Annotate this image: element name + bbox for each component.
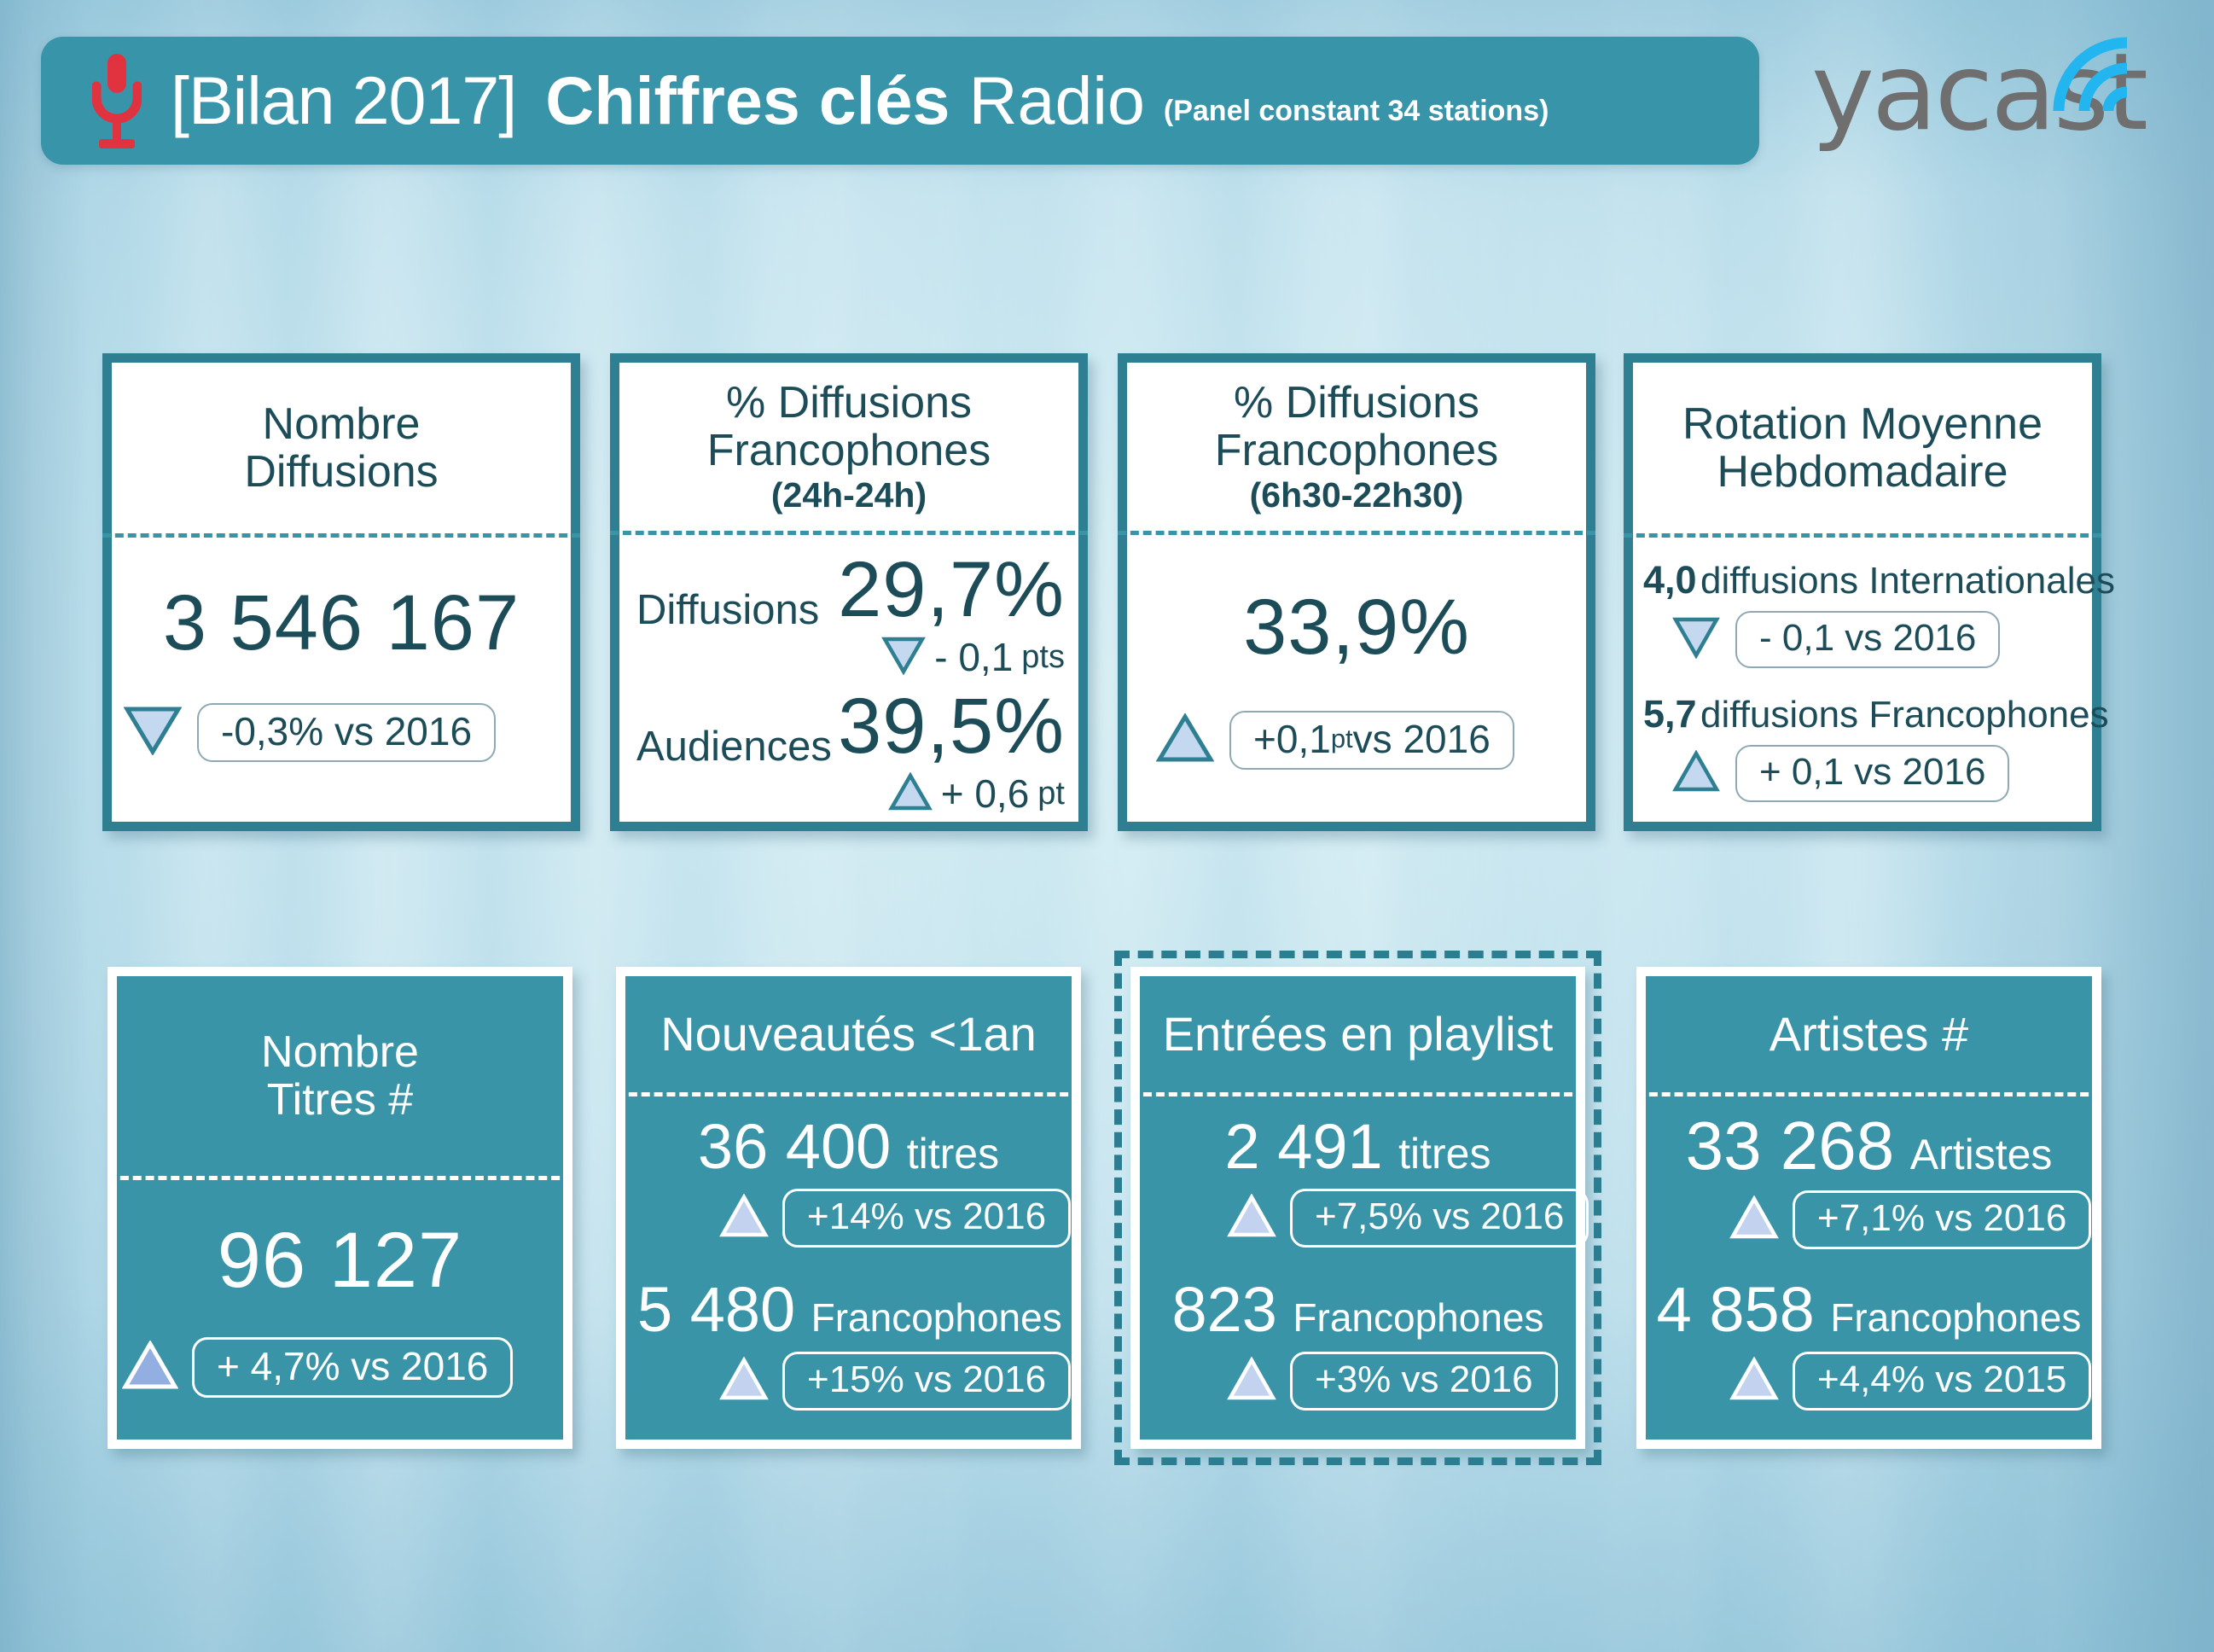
- row-trend: +7,1% vs 2016: [1654, 1190, 2083, 1249]
- row-value: 4 858: [1657, 1274, 1815, 1345]
- row-value: 4,0: [1643, 558, 1697, 602]
- card-body: 3 546 167 -0,3% vs 2016: [112, 538, 571, 816]
- row-badge: +7,1% vs 2016: [1793, 1190, 2091, 1249]
- row-badge: +14% vs 2016: [782, 1189, 1071, 1248]
- triangle-up-icon: [1672, 750, 1720, 797]
- microphone-icon: [92, 54, 142, 148]
- card-header: Nouveautés <1an: [625, 976, 1072, 1092]
- artistes-row-total: 33 268 Artistes +7,1% vs 2016: [1654, 1112, 2083, 1249]
- triangle-up-icon: [888, 772, 933, 816]
- titres-trend-row: + 4,7% vs 2016: [117, 1337, 563, 1398]
- metric-row-audiences: Audiences 39,5% + 0,6 pt: [636, 687, 1065, 815]
- card-nombre-diffusions: Nombre Diffusions 3 546 167 -0,3% vs 201…: [102, 353, 580, 831]
- diffusions-trend-row: -0,3% vs 2016: [112, 703, 571, 762]
- row-value: 5 480: [637, 1274, 795, 1345]
- card-artistes: Artistes # 33 268 Artistes +7,1% vs 2016…: [1636, 967, 2101, 1449]
- card-title-line2: Francophones: [1215, 427, 1498, 474]
- triangle-down-icon: [881, 636, 926, 679]
- row-value: 39,5%: [838, 687, 1065, 765]
- header-title: [Bilan 2017] Chiffres clés Radio (Panel …: [171, 61, 1549, 140]
- card-header: Artistes #: [1646, 976, 2092, 1092]
- card-title-line2: Francophones: [707, 427, 991, 474]
- card-body: 96 127 + 4,7% vs 2016: [117, 1180, 563, 1444]
- card-header: Nombre Diffusions: [112, 363, 571, 533]
- triangle-up-icon: [1227, 1194, 1276, 1242]
- badge-main: +0,1: [1253, 718, 1331, 759]
- card-header: Entrées en playlist: [1140, 976, 1576, 1092]
- card-title-line2: Hebdomadaire: [1717, 448, 2008, 496]
- card-title-line1: Nombre: [261, 1028, 419, 1076]
- card-title-line1: Rotation Moyenne: [1682, 400, 2043, 448]
- rotation-row-internationales: 4,0 diffusions Internationales - 0,1 vs …: [1643, 558, 2083, 668]
- titres-value: 96 127: [117, 1221, 563, 1300]
- card-header: Rotation Moyenne Hebdomadaire: [1633, 363, 2092, 533]
- titres-change-badge: + 4,7% vs 2016: [192, 1337, 513, 1398]
- triangle-up-icon: [1156, 713, 1214, 767]
- row-trend: +7,5% vs 2016: [1152, 1189, 1564, 1248]
- header-bar: [Bilan 2017] Chiffres clés Radio (Panel …: [41, 37, 1759, 165]
- triangle-up-icon: [1729, 1195, 1779, 1244]
- title-bilan: [Bilan 2017]: [171, 61, 516, 140]
- row-badge: - 0,1 vs 2016: [1735, 611, 2000, 668]
- wifi-signal-icon: [2052, 36, 2147, 117]
- title-panel-note: (Panel constant 34 stations): [1164, 95, 1549, 128]
- entrees-row-titres: 2 491 titres +7,5% vs 2016: [1152, 1115, 1564, 1248]
- card-header: % Diffusions Francophones (6h30-22h30): [1127, 363, 1586, 531]
- row-trend: - 0,1 vs 2016: [1643, 611, 2083, 668]
- card-body: 33 268 Artistes +7,1% vs 2016 4 858 Fran…: [1646, 1096, 2092, 1444]
- badge-rest: vs 2016: [1353, 718, 1491, 759]
- triangle-up-icon: [122, 1341, 178, 1394]
- artistes-row-francophones: 4 858 Francophones +4,4% vs 2015: [1654, 1278, 2083, 1411]
- row-label: Diffusions: [636, 586, 819, 634]
- row-trend: +3% vs 2016: [1152, 1352, 1564, 1411]
- entrees-row-francophones: 823 Francophones +3% vs 2016: [1152, 1278, 1564, 1411]
- triangle-up-icon: [719, 1357, 769, 1405]
- row-badge: +3% vs 2016: [1290, 1352, 1558, 1411]
- card-nombre-titres: Nombre Titres # 96 127 + 4,7% vs 2016: [108, 967, 572, 1449]
- row-change: + 0,6: [941, 771, 1030, 817]
- nouveautes-row-francophones: 5 480 Francophones +15% vs 2016: [637, 1278, 1060, 1411]
- card-francophones-6h30: % Diffusions Francophones (6h30-22h30) 3…: [1118, 353, 1595, 831]
- card-nouveautes: Nouveautés <1an 36 400 titres +14% vs 20…: [616, 967, 1081, 1449]
- triangle-down-icon: [124, 706, 182, 759]
- card-title-line1: % Diffusions: [1234, 379, 1479, 427]
- row-trend: +15% vs 2016: [637, 1352, 1060, 1411]
- card-body: Diffusions 29,7% - 0,1 pts Audiences 39,…: [619, 535, 1078, 816]
- row-value: 29,7%: [838, 550, 1065, 629]
- card-title-line1: % Diffusions: [726, 379, 972, 427]
- card-title-line1: Nombre: [263, 400, 421, 448]
- card-title-line2: Titres #: [267, 1076, 413, 1124]
- row-value: 823: [1171, 1274, 1276, 1345]
- card-entrees-playlist: Entrées en playlist 2 491 titres +7,5% v…: [1130, 967, 1585, 1449]
- row-change: - 0,1: [934, 634, 1013, 680]
- francophones-6h30-value: 33,9%: [1127, 588, 1586, 666]
- card-title: Entrées en playlist: [1163, 1009, 1554, 1060]
- card-subtitle: (24h-24h): [771, 476, 927, 515]
- row-badge: +15% vs 2016: [782, 1352, 1071, 1411]
- card-title: Nouveautés <1an: [660, 1009, 1037, 1060]
- triangle-down-icon: [1672, 616, 1720, 663]
- title-radio: Radio: [968, 61, 1144, 140]
- row-unit: Francophones: [1293, 1295, 1543, 1340]
- row-label: Audiences: [636, 723, 832, 771]
- yacast-logo: yacast: [1811, 36, 2153, 151]
- row-unit: Francophones: [811, 1295, 1062, 1340]
- row-value: 36 400: [698, 1111, 891, 1182]
- badge-sup: pt: [1331, 725, 1353, 753]
- card-title-line2: Diffusions: [244, 448, 438, 496]
- row-value: 2 491: [1225, 1111, 1383, 1182]
- triangle-up-icon: [1227, 1357, 1276, 1405]
- row-trend: +4,4% vs 2015: [1654, 1352, 2083, 1411]
- title-keyfigures: Chiffres clés: [545, 61, 950, 140]
- card-body: 2 491 titres +7,5% vs 2016 823 Francopho…: [1140, 1096, 1576, 1444]
- row-badge: +7,5% vs 2016: [1290, 1189, 1589, 1248]
- row-trend: + 0,6 pt: [838, 771, 1065, 817]
- card-body: 36 400 titres +14% vs 2016 5 480 Francop…: [625, 1096, 1072, 1444]
- francophones-6h30-trend-row: +0,1pt vs 2016: [1127, 711, 1586, 770]
- card-header: Nombre Titres #: [117, 976, 563, 1176]
- row-badge: +4,4% vs 2015: [1793, 1352, 2091, 1411]
- row-unit: Francophones: [1830, 1295, 2081, 1340]
- row-unit: Artistes: [1910, 1131, 2053, 1178]
- row-value: 5,7: [1643, 692, 1697, 736]
- card-rotation-moyenne: Rotation Moyenne Hebdomadaire 4,0 diffus…: [1624, 353, 2101, 831]
- card-body: 4,0 diffusions Internationales - 0,1 vs …: [1633, 538, 2092, 816]
- card-title: Artistes #: [1769, 1009, 1968, 1060]
- row-label: diffusions Internationales: [1700, 560, 2115, 602]
- row-trend: +14% vs 2016: [637, 1189, 1060, 1248]
- rotation-row-francophones: 5,7 diffusions Francophones + 0,1 vs 201…: [1643, 692, 2083, 802]
- metric-row-diffusions: Diffusions 29,7% - 0,1 pts: [636, 550, 1065, 678]
- card-subtitle: (6h30-22h30): [1250, 476, 1464, 515]
- nouveautes-row-titres: 36 400 titres +14% vs 2016: [637, 1115, 1060, 1248]
- row-unit: titres: [1398, 1130, 1491, 1178]
- row-trend: + 0,1 vs 2016: [1643, 745, 2083, 802]
- row-unit: titres: [907, 1130, 999, 1178]
- card-body: 33,9% +0,1pt vs 2016: [1127, 535, 1586, 816]
- card-francophones-24h: % Diffusions Francophones (24h-24h) Diff…: [610, 353, 1088, 831]
- diffusions-change-badge: -0,3% vs 2016: [197, 703, 496, 762]
- triangle-up-icon: [1729, 1357, 1779, 1405]
- row-trend: - 0,1 pts: [838, 634, 1065, 680]
- row-change-unit: pts: [1021, 639, 1065, 676]
- row-change-unit: pt: [1037, 776, 1065, 812]
- row-value: 33 268: [1686, 1108, 1895, 1184]
- francophones-6h30-change-badge: +0,1pt vs 2016: [1229, 711, 1514, 770]
- row-badge: + 0,1 vs 2016: [1735, 745, 2009, 802]
- row-label: diffusions Francophones: [1700, 694, 2109, 736]
- triangle-up-icon: [719, 1194, 769, 1242]
- diffusions-value: 3 546 167: [112, 584, 571, 662]
- card-header: % Diffusions Francophones (24h-24h): [619, 363, 1078, 531]
